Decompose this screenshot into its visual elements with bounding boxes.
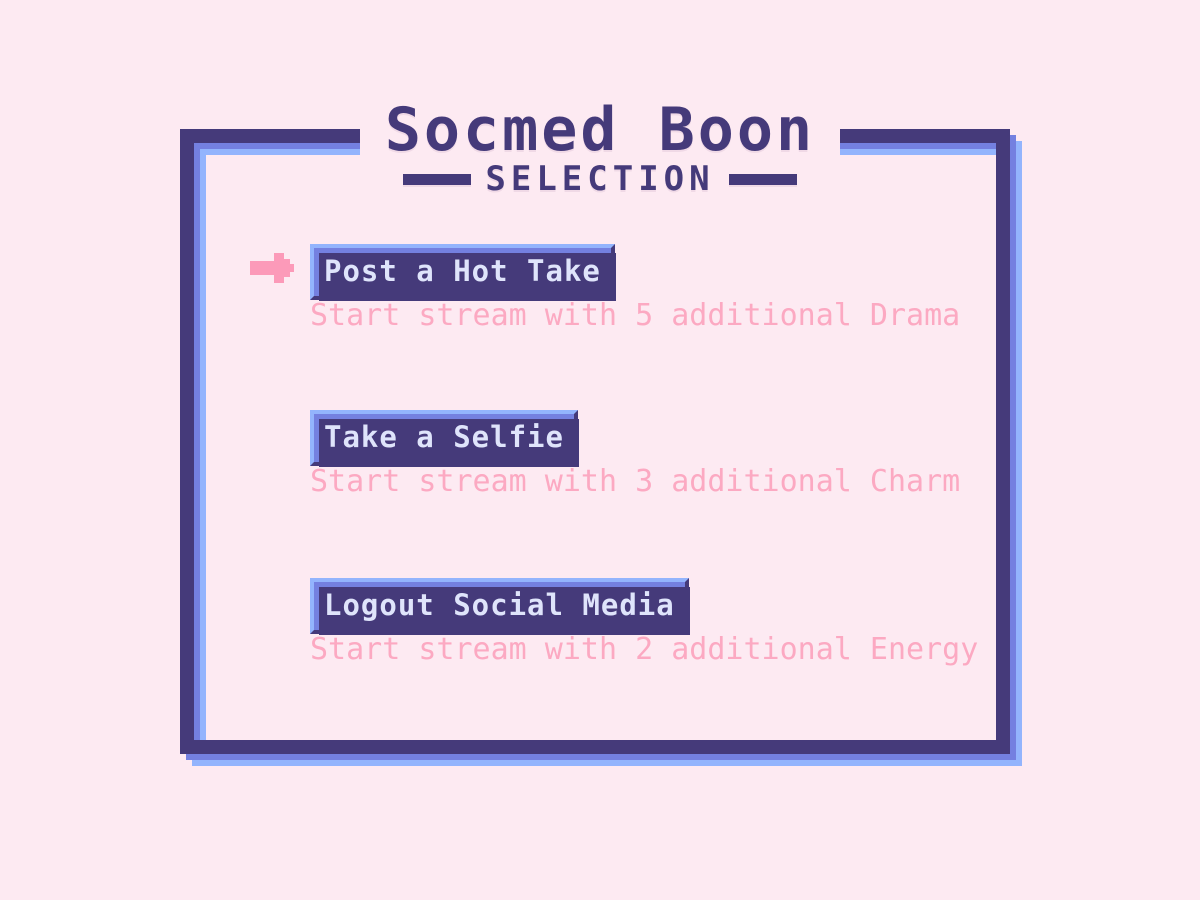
boon-option[interactable]: Logout Social Media Start stream with 2 … xyxy=(246,578,1006,666)
arrow-right-icon xyxy=(250,249,294,287)
boon-option-description: Start stream with 5 additional Drama xyxy=(310,300,1006,332)
header: Socmed Boon SELECTION xyxy=(0,100,1200,196)
boon-option[interactable]: Take a Selfie Start stream with 3 additi… xyxy=(246,410,1006,498)
game-screen: Socmed Boon SELECTION Post a Hot Take St… xyxy=(0,0,1200,900)
subtitle-dash-right xyxy=(729,174,797,185)
boon-option-row[interactable]: Take a Selfie xyxy=(246,410,1006,458)
boon-button-wrap[interactable]: Take a Selfie xyxy=(310,410,578,466)
boon-option[interactable]: Post a Hot Take Start stream with 5 addi… xyxy=(246,244,1006,332)
boon-option-description: Start stream with 3 additional Charm xyxy=(310,466,1006,498)
boon-option-list: Post a Hot Take Start stream with 5 addi… xyxy=(246,244,1006,666)
subtitle-row: SELECTION xyxy=(0,162,1200,196)
boon-option-button[interactable]: Post a Hot Take xyxy=(310,244,615,300)
boon-button-wrap[interactable]: Post a Hot Take xyxy=(310,244,615,300)
boon-option-description: Start stream with 2 additional Energy xyxy=(310,634,1006,666)
page-title: Socmed Boon xyxy=(0,100,1200,160)
subtitle-dash-left xyxy=(403,174,471,185)
boon-option-button[interactable]: Take a Selfie xyxy=(310,410,578,466)
cursor-slot xyxy=(246,244,310,292)
boon-option-row[interactable]: Post a Hot Take xyxy=(246,244,1006,292)
page-subtitle: SELECTION xyxy=(485,162,714,196)
boon-option-row[interactable]: Logout Social Media xyxy=(246,578,1006,626)
boon-button-wrap[interactable]: Logout Social Media xyxy=(310,578,689,634)
boon-option-button[interactable]: Logout Social Media xyxy=(310,578,689,634)
